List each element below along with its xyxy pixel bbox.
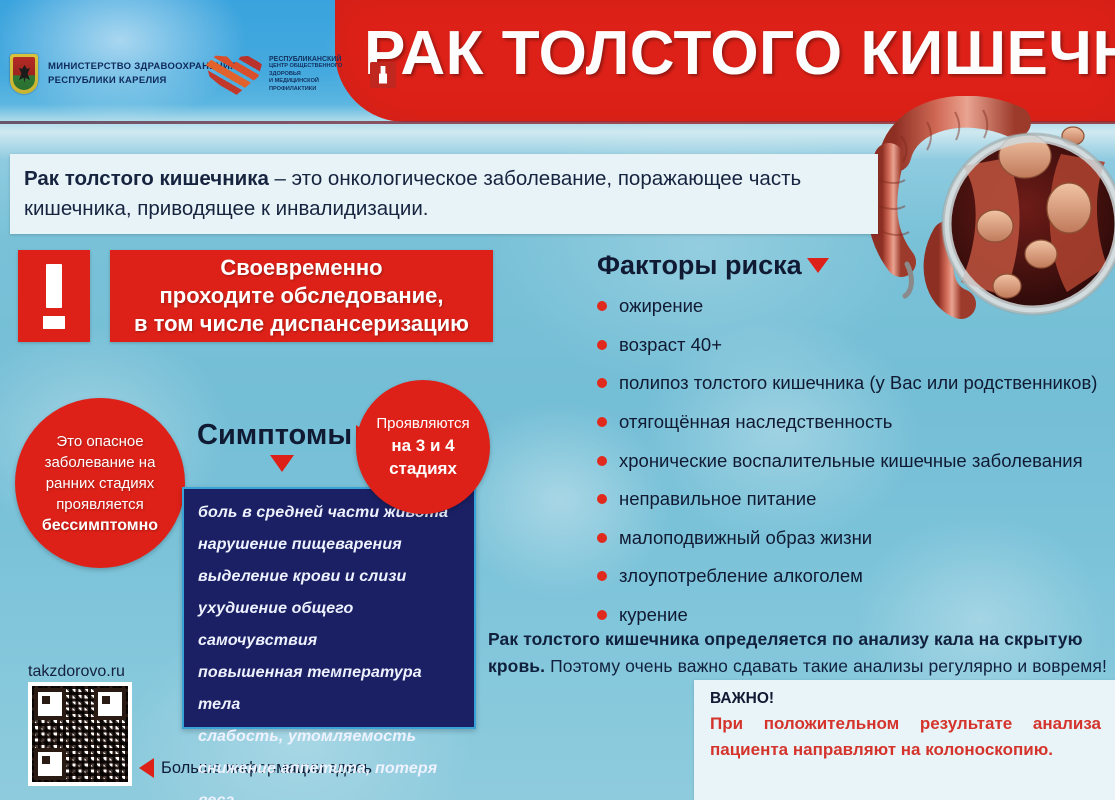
center-line-1: РЕСПУБЛИКАНСКИЙ: [269, 56, 364, 64]
symptom-item: снижение аппетита, потеря веса: [198, 753, 462, 800]
stage-line-1: Проявляются: [376, 413, 469, 435]
symptom-item: выделение крови и слизи: [198, 561, 462, 593]
stage-circle: Проявляются на 3 и 4 стадиях: [356, 380, 490, 514]
public-health-center-logo: РЕСПУБЛИКАНСКИЙ ЦЕНТР ОБЩЕСТВЕННОГО ЗДОР…: [205, 52, 396, 97]
page-title: РАК ТОЛСТОГО КИШЕЧНИКА: [364, 18, 1115, 89]
risk-item-label: хронические воспалительные кишечные забо…: [619, 450, 1083, 472]
risk-factors-list: ожирение возраст 40+ полипоз толстого ки…: [597, 287, 1115, 634]
stage-line-2: на 3 и 4: [391, 436, 454, 455]
list-item: возраст 40+: [597, 326, 1115, 365]
symptoms-triangle-down-icon: [270, 455, 294, 472]
important-box: ВАЖНО! При положительном результате анал…: [694, 680, 1115, 800]
risk-item-label: злоупотребление алкоголем: [619, 565, 863, 587]
bullet-icon: [597, 301, 607, 311]
bullet-icon: [597, 610, 607, 620]
definition-box: Рак толстого кишечника – это онкологичес…: [10, 154, 878, 234]
list-item: отягощённая наследственность: [597, 403, 1115, 442]
list-item: злоупотребление алкоголем: [597, 557, 1115, 596]
symptoms-title: Симптомы: [197, 419, 372, 452]
danger-line-5: бессимптомно: [42, 517, 158, 534]
asymptomatic-warning-text: Это опасное заболевание на ранних стадия…: [30, 431, 170, 536]
list-item: хронические воспалительные кишечные забо…: [597, 441, 1115, 480]
heart-swoosh-icon: [205, 52, 263, 97]
risk-item-label: малоподвижный образ жизни: [619, 527, 872, 549]
danger-line-1: Это опасное: [42, 431, 158, 452]
qr-url-label: takzdorovo.ru: [28, 663, 125, 681]
karelia-coat-of-arms-icon: [10, 54, 38, 94]
symptoms-title-text: Симптомы: [197, 419, 352, 452]
qr-code[interactable]: [28, 682, 132, 786]
triangle-down-icon: [807, 258, 829, 273]
bottom-rest-text: Поэтому очень важно сдавать такие анализ…: [545, 656, 1107, 676]
stool-test-paragraph: Рак толстого кишечника определяется по а…: [488, 626, 1115, 680]
qr-code-pattern: [32, 686, 128, 782]
risk-item-label: неправильное питание: [619, 488, 816, 510]
symptom-item: повышенная температура тела: [198, 657, 462, 721]
bullet-icon: [597, 340, 607, 350]
bullet-icon: [597, 378, 607, 388]
symptom-item: слабость, утомляемость: [198, 721, 462, 753]
exclamation-bar: [46, 264, 62, 308]
symptoms-box: боль в средней части живота нарушение пи…: [182, 487, 476, 729]
definition-text: Рак толстого кишечника – это онкологичес…: [24, 164, 864, 224]
center-line-2: ЦЕНТР ОБЩЕСТВЕННОГО ЗДОРОВЬЯ: [269, 63, 364, 78]
risk-item-label: курение: [619, 604, 688, 626]
symptom-item: ухудшение общего самочувствия: [198, 593, 462, 657]
triangle-left-icon: [139, 758, 154, 778]
exclamation-icon: [18, 250, 90, 342]
bullet-icon: [597, 571, 607, 581]
medical-cross-badge-icon: [370, 62, 396, 88]
screening-banner: Своевременно проходите обследование, в т…: [110, 250, 493, 342]
important-text: При положительном результате анализа пац…: [710, 711, 1101, 763]
symptom-item: нарушение пищеварения: [198, 529, 462, 561]
bullet-icon: [597, 456, 607, 466]
center-line-3: И МЕДИЦИНСКОЙ ПРОФИЛАКТИКИ: [269, 78, 364, 93]
risk-item-label: возраст 40+: [619, 334, 722, 356]
risk-factors-title: Факторы риска: [597, 250, 829, 281]
qr-finder-bottom-left: [34, 748, 66, 780]
danger-line-2: заболевание на: [42, 452, 158, 473]
exclamation-dot: [43, 316, 65, 329]
center-logo-text: РЕСПУБЛИКАНСКИЙ ЦЕНТР ОБЩЕСТВЕННОГО ЗДОР…: [269, 56, 364, 94]
important-title: ВАЖНО!: [710, 690, 1101, 708]
bullet-icon: [597, 494, 607, 504]
danger-line-4: проявляется: [42, 494, 158, 515]
stage-circle-text: Проявляются на 3 и 4 стадиях: [376, 413, 469, 481]
ministry-logo: МИНИСТЕРСТВО ЗДРАВООХРАНЕНИЯ РЕСПУБЛИКИ …: [10, 54, 237, 94]
risk-item-label: отягощённая наследственность: [619, 411, 892, 433]
risk-factors-title-text: Факторы риска: [597, 250, 802, 281]
banner-line-3: в том числе диспансеризацию: [134, 310, 469, 338]
bullet-icon: [597, 533, 607, 543]
risk-item-label: ожирение: [619, 295, 703, 317]
stage-line-3: стадиях: [389, 459, 457, 478]
banner-line-1: Своевременно: [134, 254, 469, 282]
qr-finder-top-right: [94, 688, 126, 720]
bullet-icon: [597, 417, 607, 427]
banner-line-2: проходите обследование,: [134, 282, 469, 310]
qr-finder-top-left: [34, 688, 66, 720]
definition-term: Рак толстого кишечника: [24, 167, 269, 190]
list-item: неправильное питание: [597, 480, 1115, 519]
list-item: малоподвижный образ жизни: [597, 519, 1115, 558]
list-item: полипоз толстого кишечника (у Вас или ро…: [597, 364, 1115, 403]
poster-root: РАК ТОЛСТОГО КИШЕЧНИКА МИНИСТЕРСТВО ЗДРА…: [0, 0, 1115, 800]
risk-item-label: полипоз толстого кишечника (у Вас или ро…: [619, 372, 1097, 394]
list-item: ожирение: [597, 287, 1115, 326]
asymptomatic-warning-circle: Это опасное заболевание на ранних стадия…: [15, 398, 185, 568]
danger-line-3: ранних стадиях: [42, 473, 158, 494]
screening-banner-text: Своевременно проходите обследование, в т…: [134, 254, 469, 338]
